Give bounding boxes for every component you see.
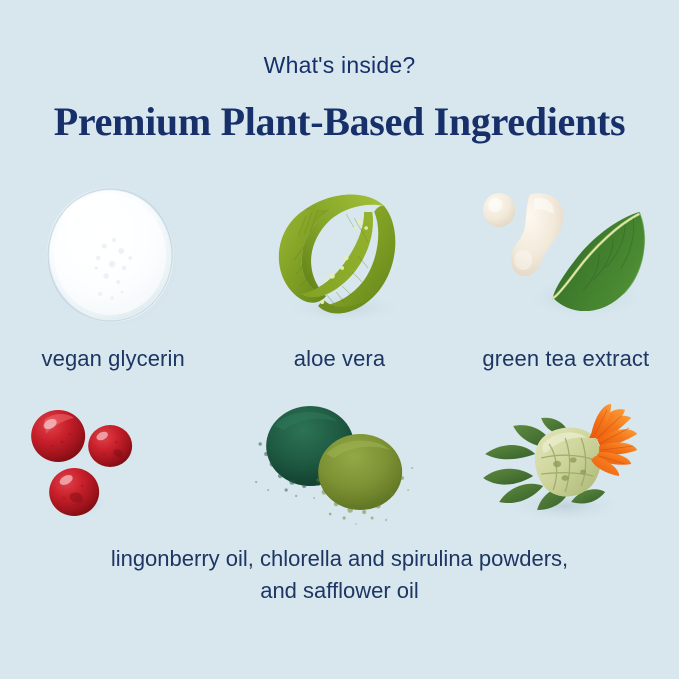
label-cell-aloe-vera: aloe vera xyxy=(226,346,452,372)
ingredients-caption: lingonberry oil, chlorella and spirulina… xyxy=(0,543,679,607)
ingredient-label-vegan-glycerin: vegan glycerin xyxy=(42,346,185,371)
ingredient-item-lingonberry-oil xyxy=(0,398,226,530)
ingredient-item-safflower-oil xyxy=(453,398,679,530)
ingredient-row-bottom xyxy=(0,398,679,530)
label-cell-vegan-glycerin: vegan glycerin xyxy=(0,346,226,372)
ingredient-labels-top: vegan glycerin aloe vera green tea extra… xyxy=(0,346,679,372)
ingredients-infographic: What's inside? Premium Plant-Based Ingre… xyxy=(0,0,679,679)
ingredient-row-top xyxy=(0,176,679,334)
ingredient-item-vegan-glycerin xyxy=(0,176,226,334)
glycerin-gel-drop-image xyxy=(0,176,226,334)
ingredient-item-aloe-vera xyxy=(226,176,452,334)
page-title: Premium Plant-Based Ingredients xyxy=(0,98,679,145)
chlorella-and-spirulina-powders-image xyxy=(226,398,452,530)
safflower-bud-image xyxy=(453,398,679,530)
lingonberries-image xyxy=(0,398,226,530)
ingredient-label-aloe-vera: aloe vera xyxy=(294,346,385,371)
eyebrow-text: What's inside? xyxy=(0,52,679,79)
caption-line-1: lingonberry oil, chlorella and spirulina… xyxy=(0,543,679,575)
green-tea-leaf-and-oil-drops-image xyxy=(453,176,679,334)
ingredient-label-green-tea-extract: green tea extract xyxy=(482,346,649,371)
aloe-vera-leaf-strips-image xyxy=(226,176,452,334)
ingredient-item-chlorella-spirulina-powders xyxy=(226,398,452,530)
label-cell-green-tea-extract: green tea extract xyxy=(453,346,679,372)
ingredient-item-green-tea-extract xyxy=(453,176,679,334)
caption-line-2: and safflower oil xyxy=(0,575,679,607)
